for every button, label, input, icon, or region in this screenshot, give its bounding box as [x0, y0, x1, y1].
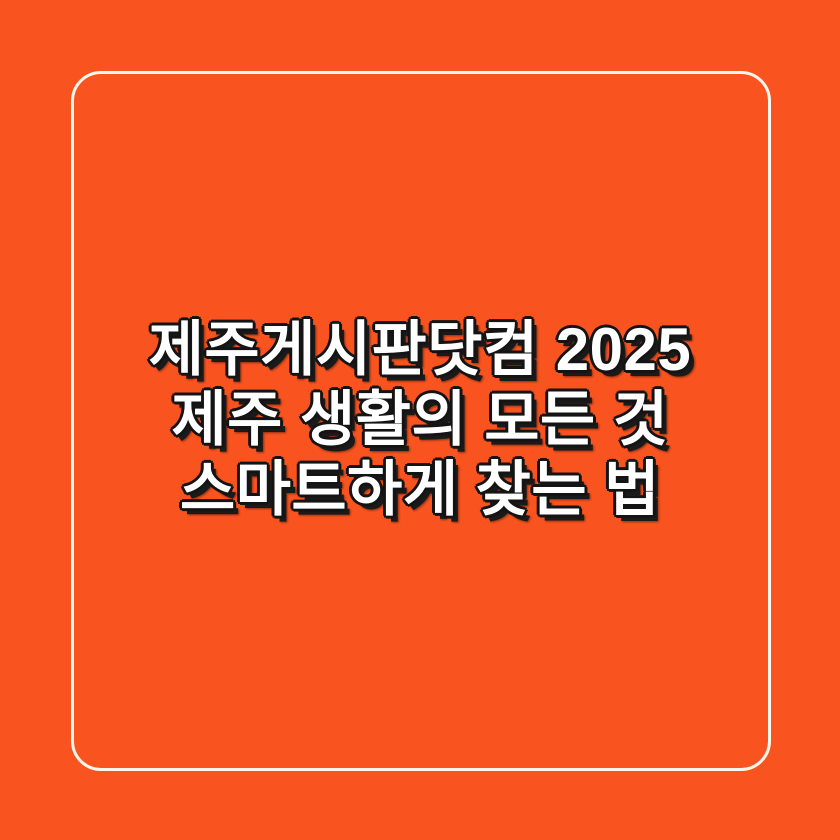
- headline-line-1: 제주게시판닷컴 2025: [90, 315, 750, 385]
- headline-line-3: 스마트하게 찾는 법: [90, 455, 750, 525]
- headline-line-2: 제주 생활의 모든 것: [90, 385, 750, 455]
- headline-block: 제주게시판닷컴 2025 제주 생활의 모든 것 스마트하게 찾는 법: [0, 0, 840, 840]
- promo-thumbnail-card: 제주게시판닷컴 2025 제주 생활의 모든 것 스마트하게 찾는 법: [0, 0, 840, 840]
